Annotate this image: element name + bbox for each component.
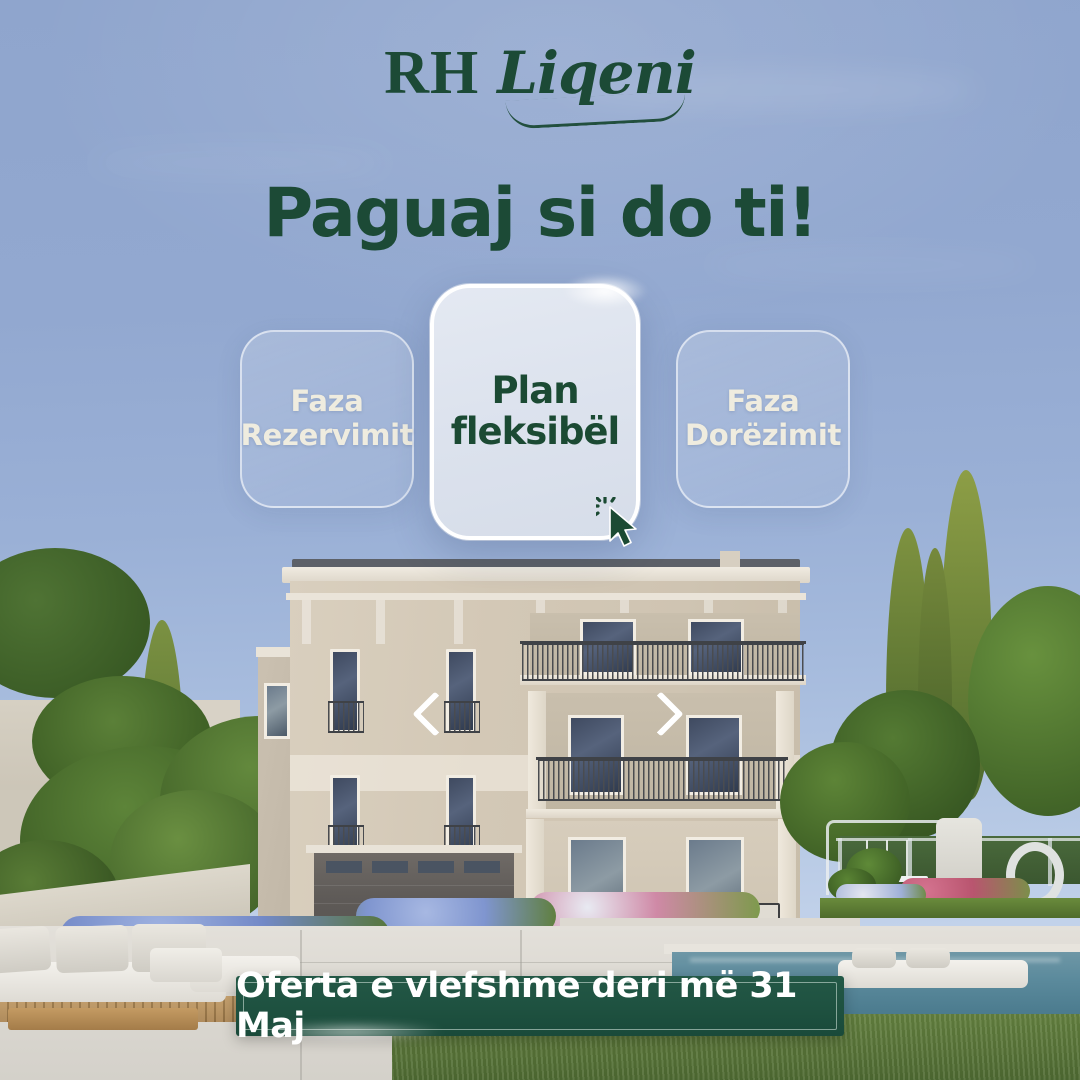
pool-lounger-cushion	[852, 948, 896, 968]
logo-initials: RH	[384, 39, 479, 107]
step-card-reservation-label: Faza Rezervimit	[241, 385, 414, 453]
payment-steps: Faza Rezervimit Plan fleksibël Faza Dorë…	[0, 284, 1080, 540]
promotional-poster: RHLiqeni Paguaj si do ti! Faza Rezervimi…	[0, 0, 1080, 1080]
step-card-delivery-label: Faza Dorëzimit	[685, 385, 841, 453]
step-card-reservation[interactable]: Faza Rezervimit	[240, 330, 414, 508]
brand-logo: RHLiqeni	[0, 42, 1080, 104]
garage-window	[464, 861, 500, 873]
coffee-table	[8, 1008, 198, 1030]
garage-window	[418, 861, 454, 873]
balcony-railing	[538, 759, 786, 801]
window-railing	[328, 701, 364, 733]
sofa-back-cushion	[55, 925, 129, 973]
step-line-1: Plan	[491, 369, 578, 412]
step-card-flexible-plan-label: Plan fleksibël	[451, 371, 619, 452]
step-card-delivery[interactable]: Faza Dorëzimit	[676, 330, 850, 508]
page-title: Paguaj si do ti!	[0, 174, 1080, 253]
step-line-2: Rezervimit	[241, 418, 414, 452]
terrace-railing-top	[520, 641, 806, 644]
swing-rope	[906, 840, 908, 878]
step-line-1: Faza	[727, 384, 800, 418]
garage-window	[326, 861, 362, 873]
villa-loggia-floor	[526, 809, 796, 818]
offer-banner-text: Oferta e vlefshme deri më 31 Maj	[236, 966, 844, 1046]
side-table	[150, 948, 222, 982]
villa-pilaster	[376, 600, 385, 644]
sofa-back-cushion	[0, 926, 51, 975]
balcony-railing-top	[536, 757, 788, 760]
villa-window	[264, 683, 290, 739]
villa-cornice	[286, 593, 806, 600]
click-cursor-icon	[596, 497, 654, 555]
offer-banner: Oferta e vlefshme deri më 31 Maj	[236, 976, 844, 1036]
lawn-strip	[820, 898, 1080, 918]
garage-window	[372, 861, 408, 873]
step-line-2: Dorëzimit	[685, 418, 841, 452]
pool-lounger-cushion	[906, 948, 950, 968]
villa-chimney	[720, 551, 740, 567]
terrace-railing	[522, 643, 804, 681]
villa-pilaster	[302, 600, 311, 644]
garage-panel-line	[314, 885, 514, 886]
villa-pilaster	[454, 600, 463, 644]
villa-scene	[0, 0, 1080, 1080]
step-line-1: Faza	[291, 384, 364, 418]
garage-surround	[306, 845, 522, 853]
step-line-2: fleksibël	[451, 410, 619, 453]
